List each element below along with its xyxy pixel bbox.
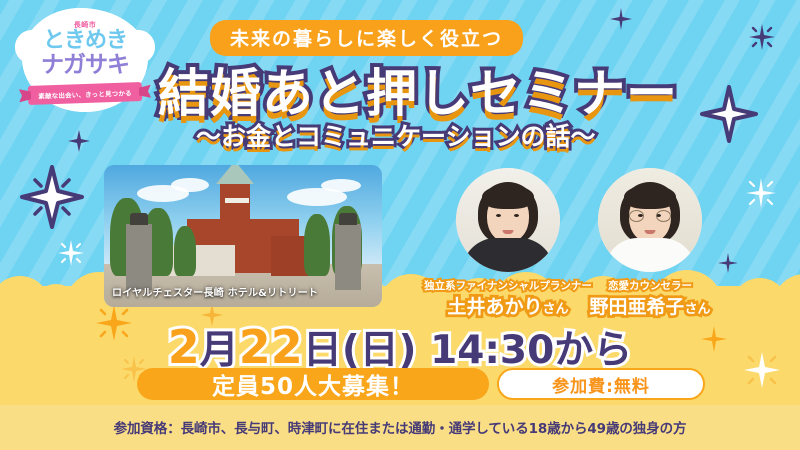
photo-tree xyxy=(174,226,196,276)
fee-badge: 参加費:無料 xyxy=(497,368,705,400)
photo-tower-roof xyxy=(225,198,249,203)
logo-line1: ときめき xyxy=(22,30,148,52)
speaker-name-text: 野田亜希子 xyxy=(589,296,684,318)
speaker-role-2: 恋愛カウンセラー xyxy=(608,278,692,293)
venue-photo: ロイヤルチェスター長崎 ホテル&リトリート xyxy=(104,165,382,307)
venue-caption: ロイヤルチェスター長崎 ホテル&リトリート xyxy=(112,284,318,299)
speaker-card-2: 恋愛カウンセラー 野田亜希子さん xyxy=(598,168,702,272)
speaker-honorific: さん xyxy=(685,302,711,317)
photo-tree xyxy=(304,214,330,276)
speaker-photo-2 xyxy=(598,168,702,272)
logo-ribbon: 素敵な出会い、きっと見つかる xyxy=(28,82,143,105)
event-poster: 長崎市 ときめき ナガサキ 素敵な出会い、きっと見つかる 未来の暮らしに楽しく役… xyxy=(0,0,800,450)
page-title: 結婚あと押しセミナー xyxy=(158,52,678,126)
speaker-honorific: さん xyxy=(543,302,569,317)
datetime-gap xyxy=(416,328,430,373)
speaker-photo-1 xyxy=(456,168,560,272)
speaker-name-1: 土井あかりさん xyxy=(447,292,568,319)
event-day-number: 22 xyxy=(239,320,303,374)
speaker-name-2: 野田亜希子さん xyxy=(589,292,710,319)
photo-fringe xyxy=(482,185,534,209)
eyebrow-banner: 未来の暮らしに楽しく役立つ xyxy=(210,20,523,56)
event-month-number: 2 xyxy=(168,320,200,374)
page-subtitle: 〜お金とコミュニケーションの話〜 xyxy=(196,117,596,153)
tokimeki-nagasaki-logo: 長崎市 ときめき ナガサキ 素敵な出会い、きっと見つかる xyxy=(22,8,148,112)
speaker-role-1: 独立系ファイナンシャルプランナー xyxy=(424,278,592,293)
speaker-card-1: 独立系ファイナンシャルプランナー 土井あかりさん xyxy=(456,168,560,272)
photo-fringe xyxy=(624,185,676,209)
photo-eye xyxy=(496,214,501,217)
event-time: 14:30から xyxy=(430,328,632,373)
glasses-icon xyxy=(628,210,672,222)
photo-cloud xyxy=(171,178,209,192)
logo-ribbon-text: 素敵な出会い、きっと見つかる xyxy=(28,87,142,101)
speaker-name-text: 土井あかり xyxy=(447,296,542,318)
photo-gate-pillar xyxy=(335,224,361,290)
event-datetime: 2月22日(日) 14:30から xyxy=(0,324,800,370)
eligibility-note: 参加資格：長崎市、長与町、時津町に在住または通勤・通学している18歳から49歳の… xyxy=(0,417,800,437)
capacity-badge: 定員50人大募集！ xyxy=(137,368,489,400)
photo-eye xyxy=(514,214,519,217)
logo-line2: ナガサキ xyxy=(22,54,148,77)
photo-gate-pillar xyxy=(126,224,152,290)
